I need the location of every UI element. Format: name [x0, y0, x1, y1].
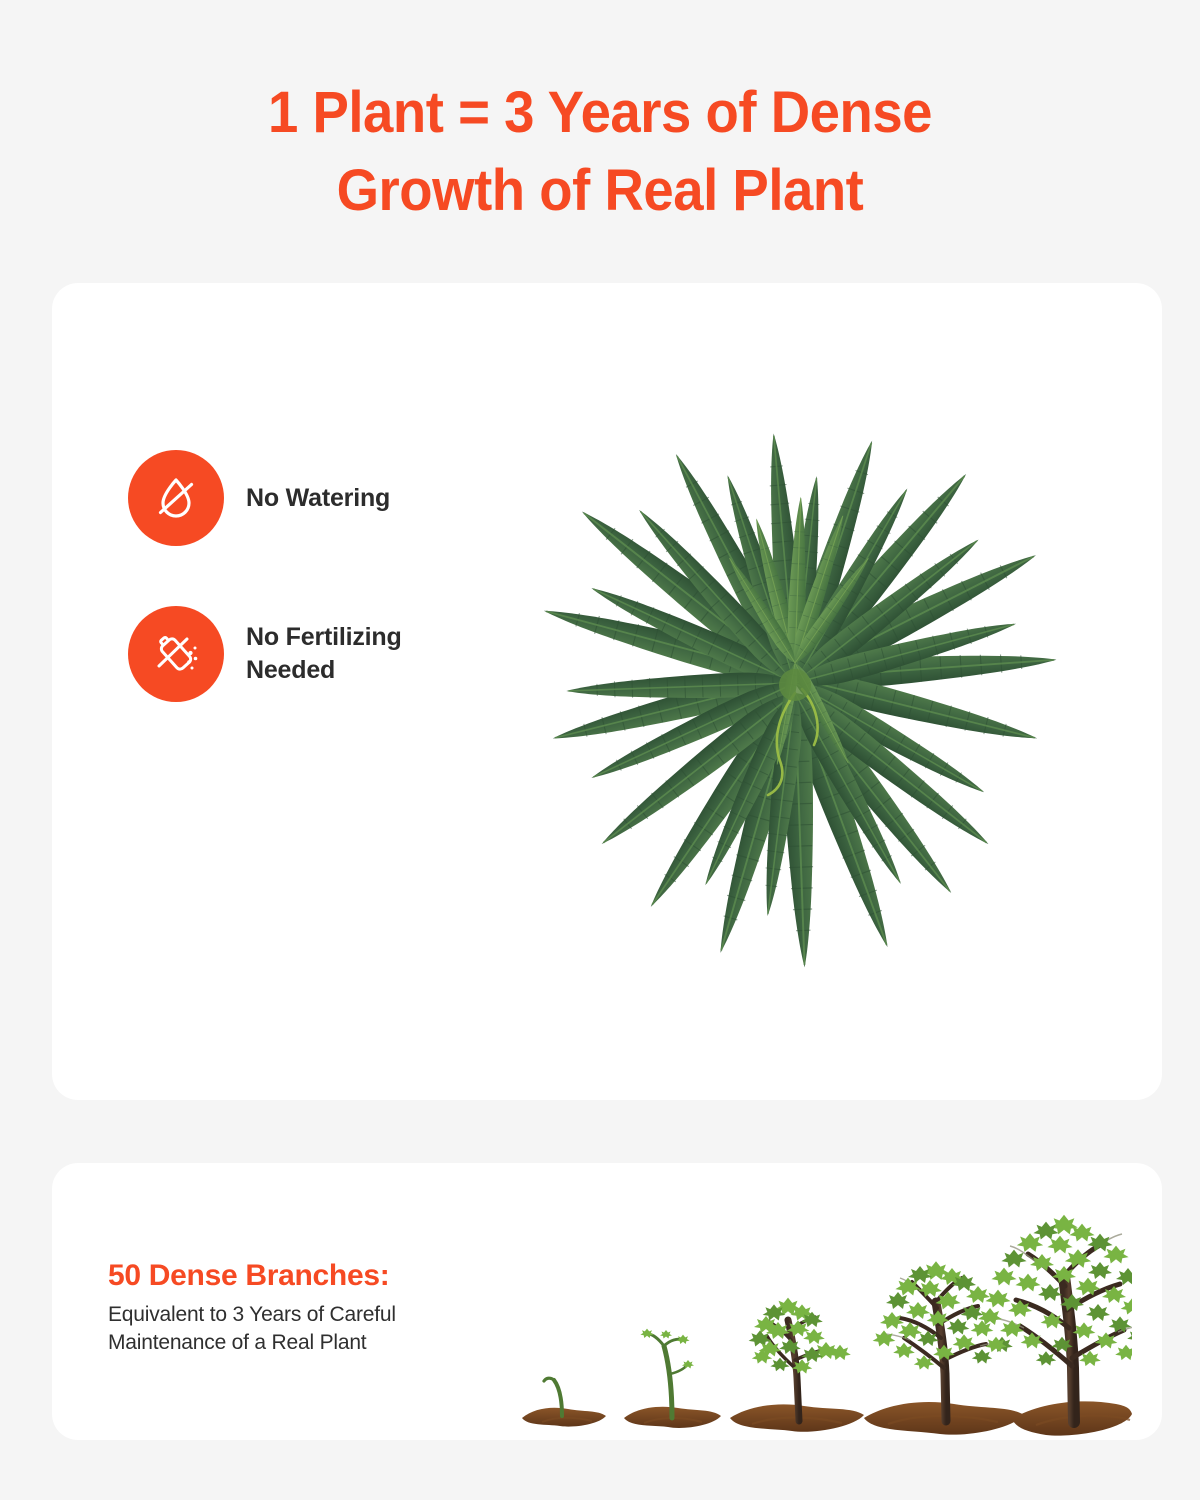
growth-stage-3: [730, 1298, 864, 1432]
feature-no-watering: No Watering: [128, 450, 390, 546]
product-feature-card: No Watering No Fertilizing Needed: [52, 283, 1162, 1100]
page-title: 1 Plant = 3 Years of Dense Growth of Rea…: [0, 74, 1200, 230]
no-water-drop-icon: [128, 450, 224, 546]
branches-text-block: 50 Dense Branches: Equivalent to 3 Years…: [108, 1258, 508, 1357]
growth-stage-5: [978, 1215, 1132, 1436]
feature-label: No Watering: [246, 482, 390, 515]
branches-description: Equivalent to 3 Years of Careful Mainten…: [108, 1301, 508, 1357]
page-title-line-1: 1 Plant = 3 Years of Dense: [36, 74, 1164, 152]
feature-no-fertilizing: No Fertilizing Needed: [128, 606, 461, 702]
fern-plant-image: [450, 393, 1140, 993]
dense-branches-card: 50 Dense Branches: Equivalent to 3 Years…: [52, 1163, 1162, 1440]
page-title-line-2: Growth of Real Plant: [36, 152, 1164, 230]
growth-stage-1: [522, 1378, 606, 1426]
branches-heading: 50 Dense Branches:: [108, 1258, 508, 1294]
tree-growth-stages-illustration: [512, 1178, 1132, 1440]
feature-label: No Fertilizing Needed: [246, 621, 461, 687]
no-fertilizer-icon: [128, 606, 224, 702]
growth-stage-2: [624, 1329, 721, 1428]
